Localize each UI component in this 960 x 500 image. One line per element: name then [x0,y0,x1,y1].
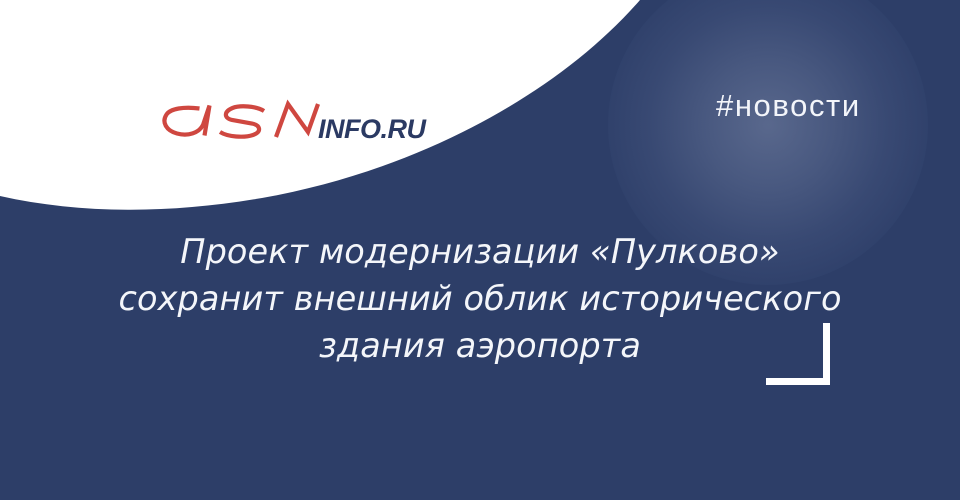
logo-letter-a [164,106,209,136]
corner-bracket-vertical [823,323,830,385]
corner-bracket-horizontal [766,378,830,385]
logo-suffix-text: INFO.RU [318,114,427,144]
headline-line-2: сохранит внешний облик исторического [60,275,900,322]
logo-letter-n [276,104,318,137]
headline-line-1: Проект модернизации «Пулково» [60,228,900,275]
news-banner: INFO.RU #новости Проект модернизации «Пу… [0,0,960,500]
logo-letter-s [220,106,264,136]
corner-bracket [766,323,830,385]
hashtag-label: #новости [716,88,861,124]
asn-info-logo[interactable]: INFO.RU [158,92,438,156]
